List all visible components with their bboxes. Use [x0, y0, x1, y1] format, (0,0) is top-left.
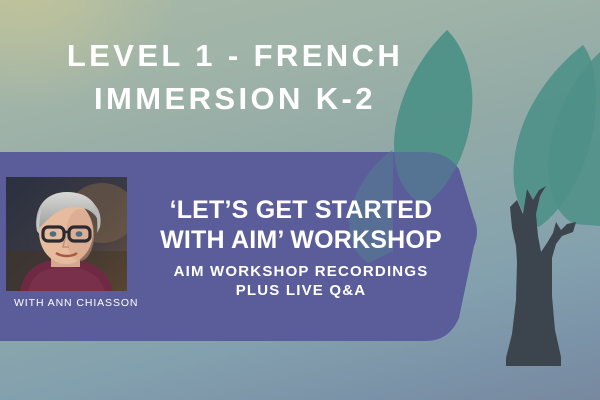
workshop-details: ‘Let’s Get Started With AIM’ Workshop AI… — [136, 195, 466, 300]
presenter-credit: With Ann Chiasson — [14, 297, 138, 309]
photo-eye-left — [50, 231, 57, 237]
promo-poster: Level 1 - French Immersion K-2 — [0, 0, 600, 400]
workshop-subline-1: AIM Workshop Recordings — [136, 262, 466, 281]
presenter-photo — [6, 177, 127, 291]
photo-eye-right — [76, 231, 83, 237]
page-title: Level 1 - French Immersion K-2 — [0, 34, 470, 120]
workshop-headline-line-2: With AIM’ Workshop — [136, 225, 466, 255]
workshop-subline-2: Plus Live Q&A — [136, 281, 466, 300]
title-line-1: Level 1 - French — [0, 34, 470, 77]
workshop-headline-line-1: ‘Let’s Get Started — [136, 195, 466, 225]
title-line-2: Immersion K-2 — [0, 77, 470, 120]
